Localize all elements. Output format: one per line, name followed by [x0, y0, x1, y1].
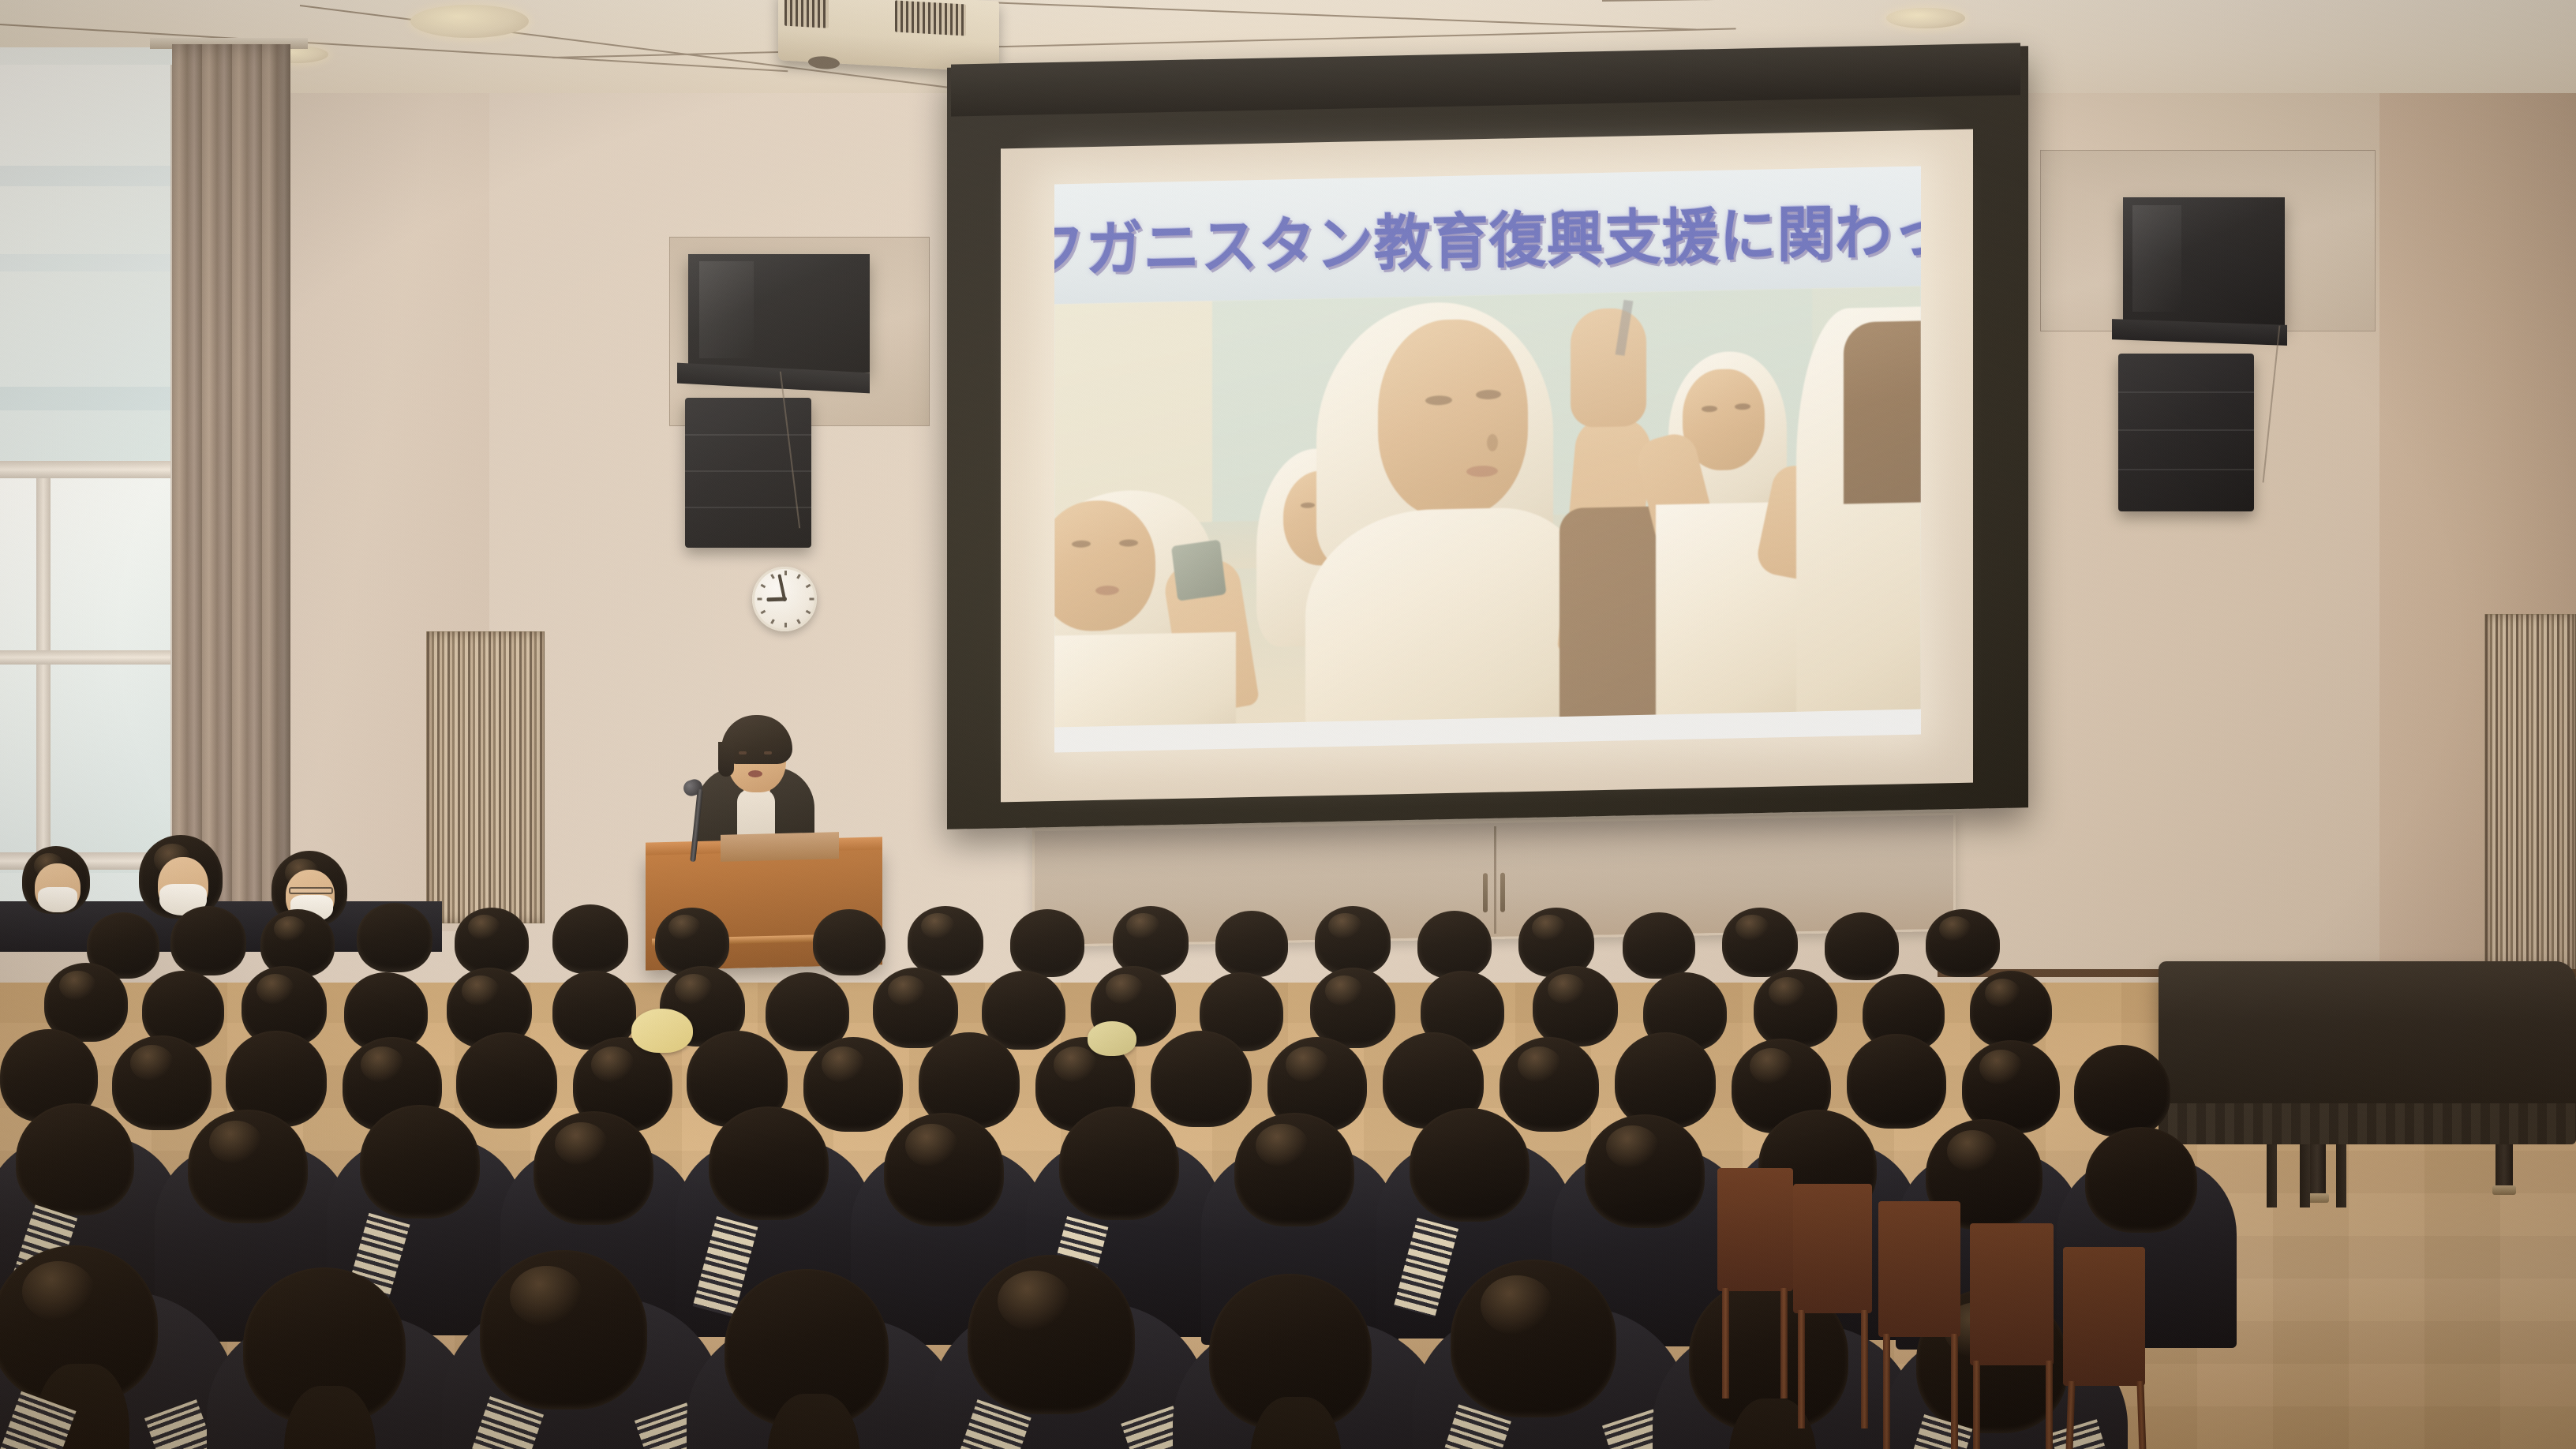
chair-back [1970, 1223, 2054, 1365]
recessed-ceiling-downlight [410, 5, 529, 38]
student-head [480, 1250, 647, 1410]
window-wall [0, 47, 183, 908]
student-head [1451, 1260, 1616, 1417]
right-line-array-speaker [2118, 354, 2254, 511]
chair-back [1878, 1201, 1960, 1337]
right-wall-monitor [2123, 197, 2285, 328]
hair-ribbon [1088, 1021, 1136, 1056]
glasses-icon [289, 887, 333, 894]
clock-minute-hand [777, 574, 786, 599]
window-pane [0, 478, 183, 873]
audience-seating [0, 852, 2576, 1449]
presenter-mouth [748, 770, 762, 777]
slide-photograph [1054, 286, 1921, 731]
left-wall-monitor [688, 254, 870, 373]
face-mask [38, 887, 77, 912]
ceiling-projector [778, 0, 999, 73]
chair-back [1717, 1168, 1793, 1291]
auditorium-photo: アフガニスタン教育復興支援に関わって [0, 0, 2576, 1449]
chair-back [1793, 1184, 1872, 1313]
recessed-ceiling-downlight [1886, 8, 1965, 28]
slide-title: アフガニスタン教育復興支援に関わって [1054, 181, 1921, 290]
slide-title-band: アフガニスタン教育復興支援に関わって [1054, 167, 1921, 305]
student-head [968, 1255, 1135, 1414]
chair-back [2063, 1247, 2145, 1386]
window-curtain[interactable] [172, 44, 290, 920]
yellow-hair-ribbon [631, 1009, 693, 1053]
wall-clock [752, 567, 817, 631]
projected-slide: アフガニスタン教育復興支援に関わって [1054, 167, 1921, 753]
